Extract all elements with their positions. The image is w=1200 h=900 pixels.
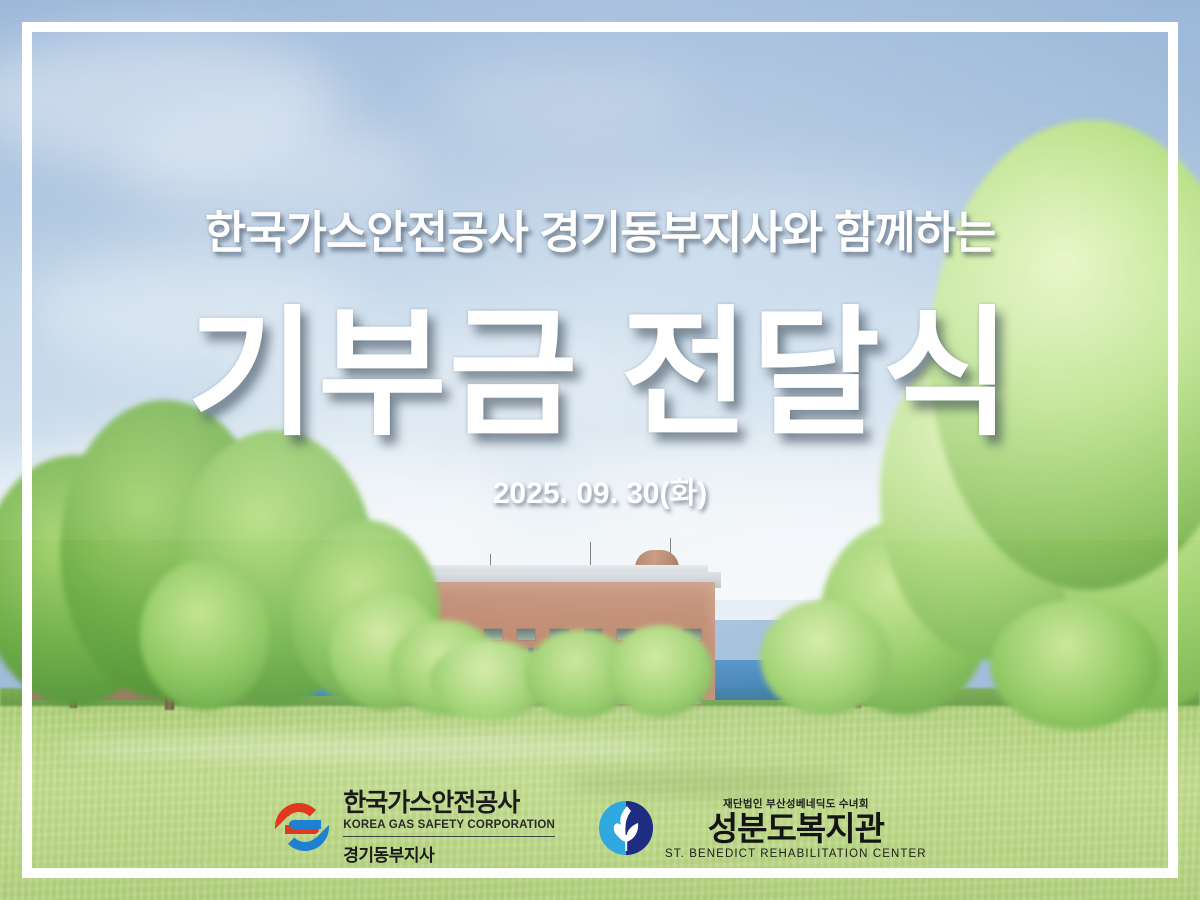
kgs-divider bbox=[343, 836, 555, 837]
tree bbox=[760, 600, 890, 715]
logo-row: 한국가스안전공사 KOREA GAS SAFETY CORPORATION 경기… bbox=[0, 786, 1200, 870]
cloud bbox=[430, 60, 690, 140]
cloud bbox=[120, 120, 420, 215]
benedict-symbol-icon bbox=[597, 799, 655, 857]
kgs-blue-bar bbox=[289, 820, 321, 829]
benedict-name-kr: 성분도복지관 bbox=[708, 811, 884, 847]
kgs-wordmark: 한국가스안전공사 KOREA GAS SAFETY CORPORATION 경기… bbox=[343, 790, 555, 866]
kgs-name-en: KOREA GAS SAFETY CORPORATION bbox=[343, 819, 555, 831]
tree bbox=[990, 600, 1160, 730]
kgs-branch-name: 경기동부지사 bbox=[343, 841, 555, 866]
cloud bbox=[620, 180, 960, 275]
shrub bbox=[608, 625, 713, 717]
window bbox=[516, 628, 536, 641]
benedict-wordmark: 재단법인 부산성베네딕도 수녀회 성분도복지관 ST. BENEDICT REH… bbox=[665, 796, 927, 860]
benedict-logo: 재단법인 부산성베네딕도 수녀회 성분도복지관 ST. BENEDICT REH… bbox=[597, 796, 927, 860]
kgs-logo: 한국가스안전공사 KOREA GAS SAFETY CORPORATION 경기… bbox=[273, 790, 555, 866]
benedict-name-en: ST. BENEDICT REHABILITATION CENTER bbox=[665, 848, 927, 860]
kgs-symbol-icon bbox=[273, 799, 331, 857]
tree bbox=[140, 560, 270, 710]
benedict-org-line: 재단법인 부산성베네딕도 수녀회 bbox=[723, 796, 869, 811]
lawn-highlight bbox=[60, 735, 680, 761]
event-poster: 성분도복지관 bbox=[0, 0, 1200, 900]
kgs-name-kr: 한국가스안전공사 bbox=[343, 790, 555, 818]
background-photo: 성분도복지관 bbox=[0, 0, 1200, 900]
cloud bbox=[250, 330, 670, 440]
